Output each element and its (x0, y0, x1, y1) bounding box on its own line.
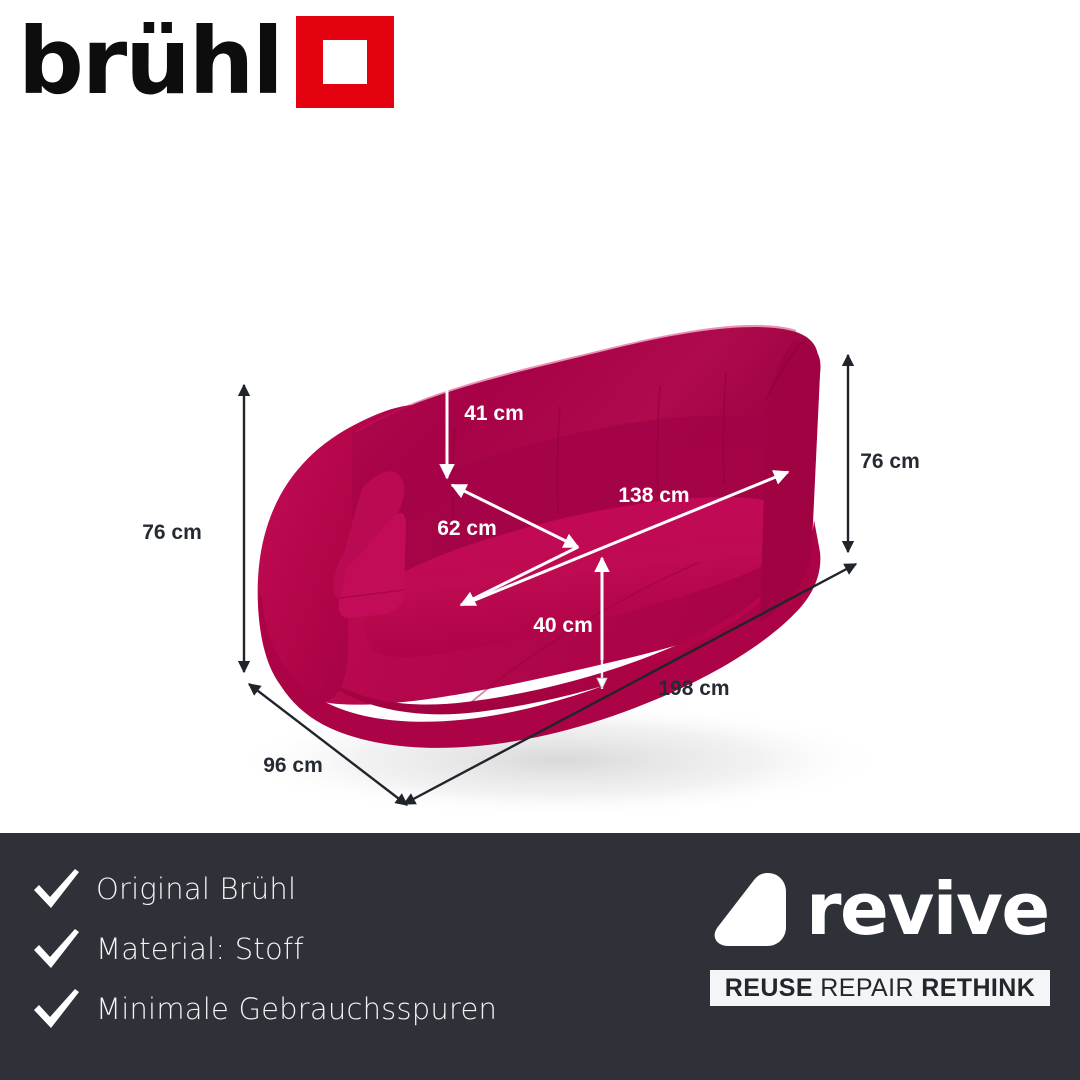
revive-tagline-bar: REUSE REPAIR RETHINK (710, 970, 1050, 1006)
sofa-illustration: 76 cm 76 cm 41 cm 62 cm (0, 100, 1080, 833)
dimension-height-left-label: 76 cm (142, 521, 202, 544)
dimension-seat-height-label: 40 cm (533, 614, 593, 637)
brand-square-logo-icon (296, 16, 394, 108)
revive-tagline: REUSE REPAIR RETHINK (725, 974, 1035, 1003)
dimension-height-right-label: 76 cm (860, 450, 920, 473)
product-info-card: brühl (0, 0, 1080, 1080)
list-item: Minimale Gebrauchsspuren (30, 979, 650, 1039)
dimension-height-right: 76 cm (848, 355, 920, 552)
brand-logo: brühl (18, 14, 394, 110)
check-icon (30, 866, 84, 912)
check-icon (30, 926, 84, 972)
footer-bar: Original Brühl Material: Stoff Minimale … (0, 833, 1080, 1080)
feature-label: Original Brühl (96, 872, 296, 906)
tagline-repair: REPAIR (820, 974, 914, 1002)
feature-label: Minimale Gebrauchsspuren (96, 992, 497, 1026)
product-image: 76 cm 76 cm 41 cm 62 cm (0, 100, 1080, 833)
list-item: Original Brühl (30, 859, 650, 919)
brand-square-inner-icon (323, 40, 367, 84)
sofa-body (258, 326, 821, 748)
feature-list: Original Brühl Material: Stoff Minimale … (30, 859, 650, 1039)
tagline-reuse: REUSE (725, 974, 813, 1002)
list-item: Material: Stoff (30, 919, 650, 979)
dimension-backrest-label: 41 cm (464, 402, 524, 425)
dimension-height-left: 76 cm (142, 385, 244, 672)
brand-wordmark: brühl (18, 16, 282, 108)
revive-logo: revive REUSE REPAIR RETHINK (710, 863, 1050, 1006)
dimension-width-label: 198 cm (658, 677, 729, 700)
dimension-seat-width-label: 138 cm (618, 484, 689, 507)
revive-leaf-icon (710, 869, 796, 949)
dimension-depth-label: 96 cm (263, 754, 323, 777)
feature-label: Material: Stoff (96, 932, 304, 966)
dimension-seat-depth-label: 62 cm (437, 517, 497, 540)
tagline-rethink: RETHINK (921, 974, 1035, 1002)
revive-logo-top: revive (710, 863, 1050, 955)
check-icon (30, 986, 84, 1032)
revive-wordmark: revive (806, 873, 1049, 945)
